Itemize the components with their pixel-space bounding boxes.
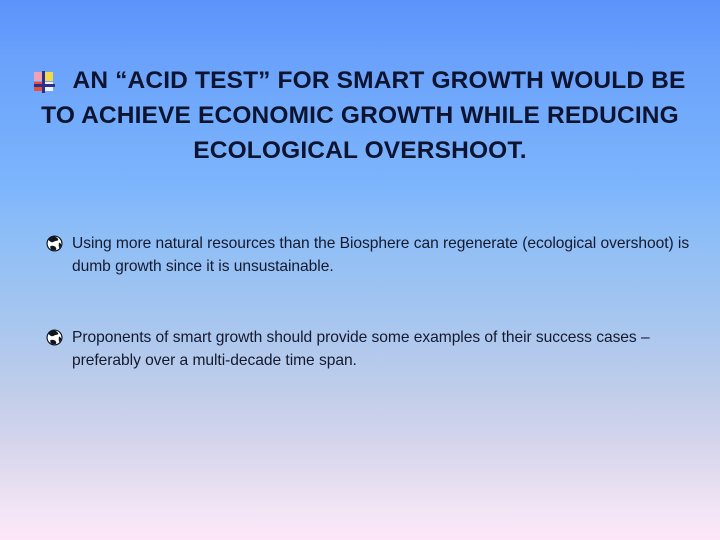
pinwheel-cross-vertical: [42, 71, 45, 93]
title-text-line-1: AN “ACID TEST” FOR SMART GROWTH WOULD BE: [72, 63, 685, 98]
list-item: Proponents of smart growth should provid…: [46, 326, 696, 372]
globe-icon: [46, 235, 63, 252]
list-item-text: Proponents of smart growth should provid…: [72, 326, 696, 372]
title-line-1: AN “ACID TEST” FOR SMART GROWTH WOULD BE: [28, 63, 692, 98]
slide-title: AN “ACID TEST” FOR SMART GROWTH WOULD BE…: [28, 63, 692, 168]
globe-icon: [46, 329, 63, 346]
title-line-2: TO ACHIEVE ECONOMIC GROWTH WHILE REDUCIN…: [28, 98, 692, 133]
pinwheel-icon: [34, 72, 54, 92]
pinwheel-quadrant-yellow: [44, 72, 53, 81]
slide-body: Using more natural resources than the Bi…: [46, 232, 696, 372]
list-item: Using more natural resources than the Bi…: [46, 232, 696, 278]
list-item-text: Using more natural resources than the Bi…: [72, 232, 696, 278]
presentation-slide: AN “ACID TEST” FOR SMART GROWTH WOULD BE…: [0, 0, 720, 540]
title-line-3: ECOLOGICAL OVERSHOOT.: [28, 133, 692, 168]
pinwheel-cross-horizontal: [34, 84, 55, 87]
